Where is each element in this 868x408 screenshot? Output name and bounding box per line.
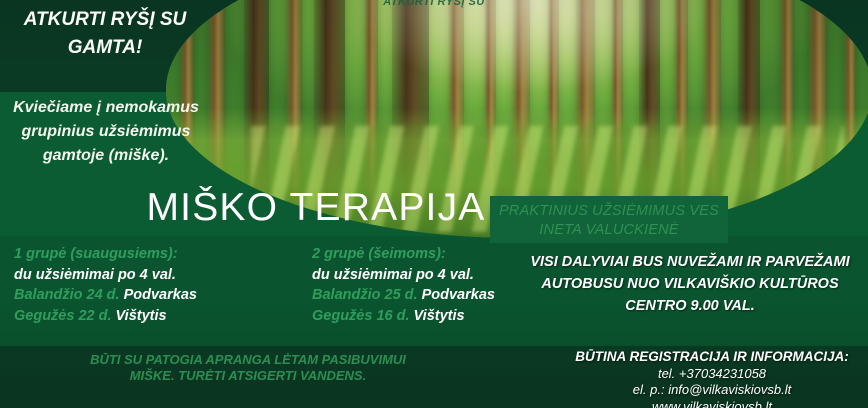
- contact-block: BŪTINA REGISTRACIJA IR INFORMACIJA: tel.…: [556, 348, 868, 408]
- contact-phone[interactable]: tel. +37034231058: [556, 366, 868, 383]
- group-2-subtitle: du užsiėmimai po 4 val.: [312, 265, 542, 286]
- invitation-text: Kviečiame į nemokamus grupinius užsiėmim…: [0, 96, 212, 168]
- group-1-session-1: Balandžio 24 d. Podvarkas: [14, 285, 304, 306]
- transport-note: VISI DALYVIAI BUS NUVEŽAMI IR PARVEŽAMI …: [516, 252, 864, 317]
- group-1-subtitle: du užsiėmimai po 4 val.: [14, 265, 304, 286]
- group-2-title: 2 grupė (šeimoms):: [312, 244, 542, 265]
- contact-email[interactable]: el. p.: info@vilkaviskiovsb.lt: [556, 382, 868, 399]
- group-2-session-1-place: Podvarkas: [422, 287, 495, 303]
- group-2-block: 2 grupė (šeimoms): du užsiėmimai po 4 va…: [312, 244, 542, 326]
- group-1-session-1-date: Balandžio 24 d.: [14, 287, 120, 303]
- group-1-session-2: Gegužės 22 d. Vištytis: [14, 306, 304, 327]
- group-1-session-1-place: Podvarkas: [124, 287, 197, 303]
- page-title: MIŠKO TERAPIJA: [96, 186, 536, 230]
- group-1-block: 1 grupė (suaugusiems): du užsiėmimai po …: [14, 244, 304, 326]
- group-2-session-2-date: Gegužės 16 d.: [312, 308, 410, 324]
- group-2-session-2-place: Vištytis: [414, 308, 465, 324]
- contact-website[interactable]: www.vilkaviskiovsb.lt: [556, 399, 868, 408]
- group-2-session-1: Balandžio 25 d. Podvarkas: [312, 285, 542, 306]
- group-1-session-2-date: Gegužės 22 d.: [14, 308, 112, 324]
- group-2-session-1-date: Balandžio 25 d.: [312, 287, 418, 303]
- group-2-session-2: Gegužės 16 d. Vištytis: [312, 306, 542, 327]
- advice-note: BŪTI SU PATOGIA APRANGA LĖTAM PASIBUVIMU…: [88, 352, 408, 385]
- speaker-note: PRAKTINIUS UŽSIĖMIMUS VES INETA VALUCKIE…: [490, 202, 728, 239]
- group-1-title: 1 grupė (suaugusiems):: [14, 244, 304, 265]
- poster-canvas: ATKURTI RYŠĮ SU ATKURTI RYŠĮ SU GAMTA! K…: [0, 0, 868, 408]
- headline-text: ATKURTI RYŠĮ SU GAMTA!: [0, 6, 210, 61]
- contact-heading: BŪTINA REGISTRACIJA IR INFORMACIJA:: [556, 348, 868, 366]
- group-1-session-2-place: Vištytis: [116, 308, 167, 324]
